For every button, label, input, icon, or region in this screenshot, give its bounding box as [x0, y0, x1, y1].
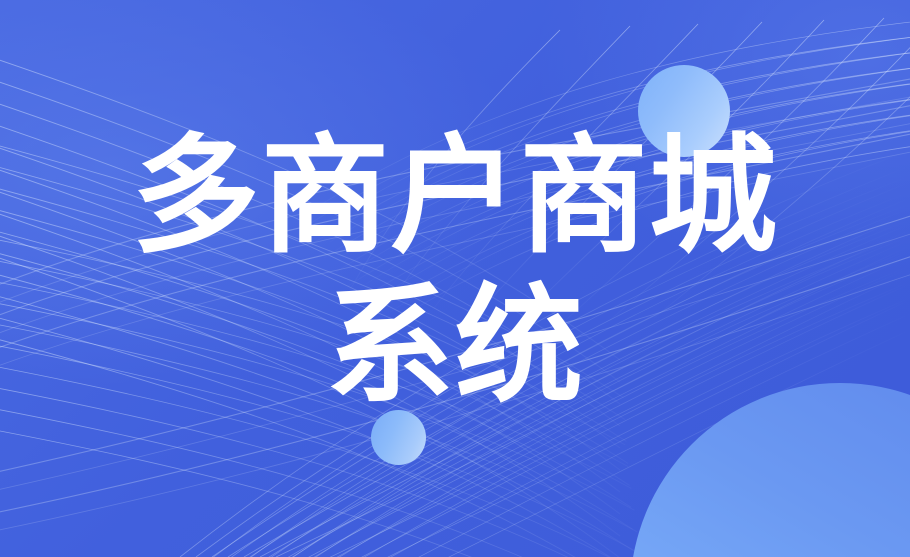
headline-line-2: 系统: [326, 283, 585, 411]
banner-headline: 多商户商城 系统: [0, 0, 910, 557]
promo-banner: 多商户商城 系统: [0, 0, 910, 557]
headline-line-1: 多商户商城: [132, 133, 778, 261]
